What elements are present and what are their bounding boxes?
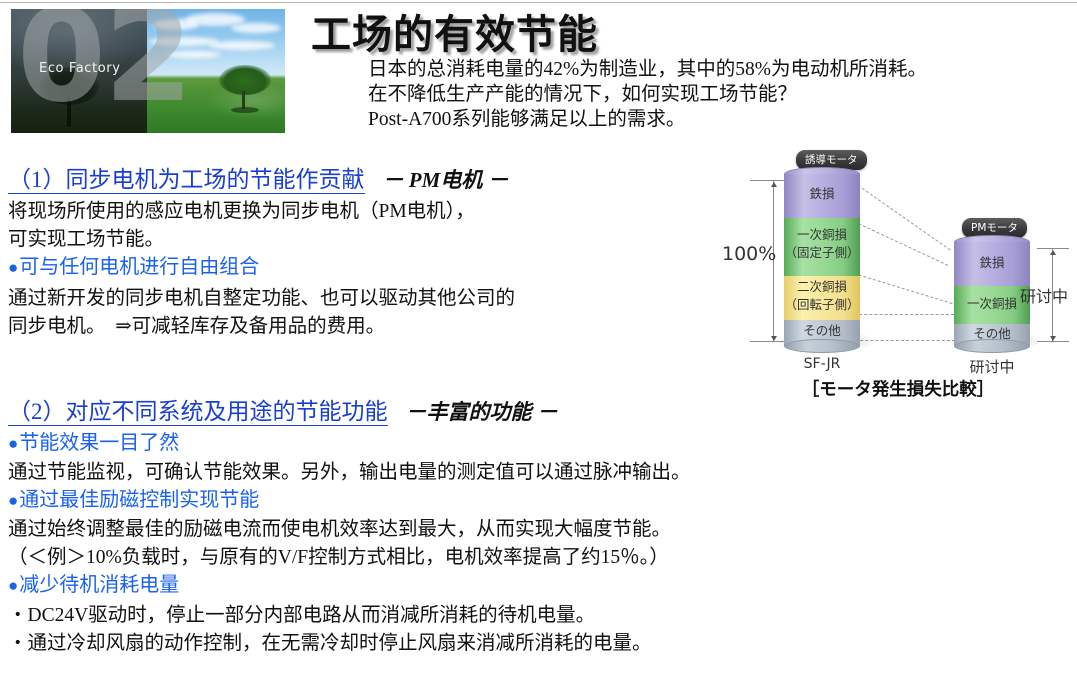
- right-axis-arrow-down-icon: [1050, 336, 1056, 341]
- section2-bullet-3-line: ・DC24V驱动时，停止一部分内部电路从而消减所消耗的待机电量。: [8, 598, 595, 627]
- section1-heading-subtitle: － PM电机 －: [383, 168, 509, 192]
- eco-factory-image: 02 Eco Factory: [11, 9, 285, 133]
- cylinder-bottom-cap: [784, 339, 860, 353]
- cloud-shape: [209, 41, 275, 50]
- section2-bullet-2-line: 通过始终调整最佳的励磁电流而使电机效率达到最大，从而实现大幅度节能。: [8, 512, 671, 541]
- segment-label: 鉄損: [954, 256, 1030, 270]
- section2-heading: （2）对应不同系统及用途的节能功能－丰富的功能 －: [8, 392, 558, 426]
- section2-heading-text: （2）对应不同系统及用途的节能功能: [8, 399, 388, 426]
- section1-line: 可实现工场节能。: [8, 222, 164, 251]
- section2-heading-subtitle: －丰富的功能 －: [406, 400, 558, 424]
- cylinder-bottom-cap: [954, 339, 1030, 353]
- connector-dashed-line: [853, 182, 950, 251]
- section2-bullet-1-label: 节能效果一目了然: [19, 432, 179, 454]
- section1-bullet-1-line: 通过新开发的同步电机自整定功能、也可以驱动其他公司的: [8, 281, 515, 310]
- connector-dashed-line: [854, 314, 959, 315]
- motor-loss-comparison-chart: 100% 誘導モータ 鉄損 一次銅損 （固定子側） 二次銅損 （回転子側） その…: [722, 148, 1074, 396]
- section2-bullet-2-line: （＜例＞10%负载时，与原有的V/F控制方式相比，电机效率提高了约15％。）: [8, 540, 669, 569]
- section2-bullet-3-label: 减少待机消耗电量: [19, 574, 179, 596]
- segment-induction-iron-loss: 鉄損: [784, 174, 860, 218]
- induction-bottom-label: SF-JR: [784, 356, 860, 372]
- right-axis-top-tick-line: [1037, 248, 1069, 249]
- section1-bullet-1-line: 同步电机。 ⇒可减轻库存及备用品的费用。: [8, 309, 385, 338]
- intro-line: 在不降低生产产能的情况下，如何实现工场节能？: [368, 82, 927, 107]
- section2-bullet-1-line: 通过节能监视，可确认节能效果。另外，输出电量的测定值可以通过脉冲输出。: [8, 455, 691, 484]
- section2-bullet-1: ●节能效果一目了然: [8, 426, 179, 455]
- page-title: 工场的有效节能: [311, 2, 598, 60]
- bullet-dot-icon: ●: [8, 576, 18, 595]
- segment-label: 鉄損: [784, 187, 860, 201]
- right-axis-label: 研讨中: [1020, 283, 1068, 307]
- intro-line: 日本的总消耗电量的42%为制造业，其中的58%为电动机所消耗。: [368, 57, 927, 82]
- axis-label-100-percent: 100%: [722, 243, 776, 265]
- section2-bullet-3-line: ・通过冷却风扇的动作控制，在无需冷却时停止风扇来消减所消耗的电量。: [8, 626, 652, 655]
- segment-label: その他: [784, 324, 860, 338]
- section1-heading-text: （1）同步电机为工场的节能作贡献: [8, 167, 365, 194]
- section2-bullet-2: ●通过最佳励磁控制实现节能: [8, 483, 259, 512]
- section2-bullet-2-label: 通过最佳励磁控制实现节能: [19, 489, 259, 511]
- segment-pm-iron-loss: 鉄損: [954, 242, 1030, 286]
- pm-bottom-label: 研讨中: [954, 356, 1030, 377]
- section1-bullet-1: ●可与任何电机进行自由组合: [8, 250, 259, 279]
- section1-bullet-1-label: 可与任何电机进行自由组合: [19, 256, 259, 278]
- induction-motor-cylinder: 鉄損 一次銅損 （固定子側） 二次銅損 （回転子側） その他: [784, 174, 860, 346]
- segment-label: 二次銅損: [784, 280, 860, 294]
- right-axis-arrow-up-icon: [1050, 250, 1056, 255]
- pm-motor-cylinder: 鉄損 一次銅損 その他: [954, 242, 1030, 346]
- segment-pm-primary-copper-loss: 一次銅損: [954, 286, 1030, 324]
- segment-label: 一次銅損: [784, 228, 860, 242]
- section2-bullet-3: ●减少待机消耗电量: [8, 568, 179, 597]
- segment-induction-primary-copper-loss: 一次銅損 （固定子側）: [784, 218, 860, 276]
- intro-paragraph: 日本的总消耗电量的42%为制造业，其中的58%为电动机所消耗。 在不降低生产产能…: [368, 57, 927, 132]
- chart-caption: ［モータ発生損失比較］: [722, 376, 1074, 401]
- section1-line: 将现场所使用的感应电机更换为同步电机（PM电机），: [8, 194, 475, 223]
- bullet-dot-icon: ●: [8, 491, 18, 510]
- right-axis-bottom-tick-line: [1037, 341, 1069, 342]
- intro-line: Post-A700系列能够满足以上的需求。: [368, 107, 927, 132]
- eco-image-caption: Eco Factory: [39, 61, 121, 76]
- section1-heading: （1）同步电机为工场的节能作贡献－ PM电机 －: [8, 160, 509, 194]
- connector-dashed-line: [854, 221, 949, 266]
- cloud-shape: [231, 23, 281, 33]
- segment-label-2: （固定子側）: [784, 246, 860, 260]
- tree-canopy-shape: [219, 65, 271, 95]
- segment-induction-secondary-copper-loss: 二次銅損 （回転子側）: [784, 276, 860, 320]
- tree-shadow-shape: [231, 107, 259, 113]
- bullet-dot-icon: ●: [8, 434, 18, 453]
- connector-dashed-line: [854, 273, 953, 304]
- segment-label: 一次銅損: [954, 297, 1030, 311]
- segment-label-2: （回転子側）: [784, 298, 860, 312]
- axis-arrow-up-icon: [771, 182, 777, 187]
- bullet-dot-icon: ●: [8, 258, 18, 277]
